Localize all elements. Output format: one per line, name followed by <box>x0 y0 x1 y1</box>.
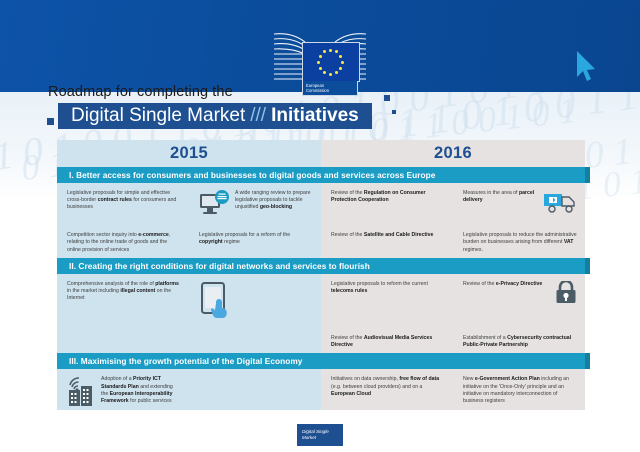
initiative-plain: New <box>463 376 475 382</box>
sections-container: I. Better access for consumers and busin… <box>57 167 585 416</box>
title-separator: /// <box>250 105 266 127</box>
title-part-1: Digital Single Market <box>71 105 245 127</box>
section-row: Competition sector inquiry into e-commer… <box>57 225 585 258</box>
initiative-text: Establishment of a Cybersecurity contrac… <box>463 335 577 349</box>
deco-square-small <box>392 110 396 114</box>
year-header-row: 2015 2016 <box>57 140 585 167</box>
initiative-cell: Legislative proposals for a reform of th… <box>189 225 321 258</box>
title-part-2: Initiatives <box>271 105 359 127</box>
section-row: Legislative proposals for simple and eff… <box>57 183 585 225</box>
initiative-plain: (e.g. between cloud providers) and on a <box>331 384 422 390</box>
initiative-cell: Review of the Regulation on Consumer Pro… <box>321 183 453 225</box>
european-commission-logo: European Commission <box>272 20 368 92</box>
page-subtitle: Roadmap for completing the <box>48 84 233 100</box>
eu-wing-left-icon <box>272 20 306 92</box>
initiative-text: Comprehensive analysis of the role of pl… <box>67 281 181 303</box>
initiative-text: New e-Government Action Plan including a… <box>463 376 577 405</box>
padlock-icon <box>555 281 577 308</box>
initiative-highlight: telecoms rules <box>331 288 367 294</box>
eu-star-icon <box>323 71 326 74</box>
parcel-truck-icon <box>543 190 577 217</box>
eu-star-icon <box>317 61 320 64</box>
initiative-cell: Review of the e-Privacy Directive <box>453 274 585 328</box>
eu-star-icon <box>341 61 344 64</box>
section-bar-label: III. Maximising the growth potential of … <box>69 356 302 366</box>
initiative-cell <box>189 328 321 353</box>
initiative-cell: Legislative proposals to reform the curr… <box>321 274 453 328</box>
dsm-badge: Digital Single Market <box>297 424 343 446</box>
initiative-highlight: e-Government Action Plan <box>475 376 540 382</box>
initiative-cell: Establishment of a Cybersecurity contrac… <box>453 328 585 353</box>
initiative-text: Initiatives on data ownership, free flow… <box>331 376 445 398</box>
initiative-highlight: illegal content <box>120 288 155 294</box>
initiative-text: Review of the e-Privacy Directive <box>463 281 551 288</box>
eu-star-icon <box>323 50 326 53</box>
initiative-plain: Competition sector inquiry into <box>67 232 138 238</box>
initiative-plain: in the market including <box>67 288 120 294</box>
initiative-text: Review of the Audiovisual Media Services… <box>331 335 445 349</box>
eu-star-icon <box>319 55 322 58</box>
initiative-plain: Measures in the area of <box>463 190 519 196</box>
eu-star-icon <box>339 67 342 70</box>
year-2016-label: 2016 <box>321 140 585 167</box>
initiative-text: Adoption of a Priority ICT Standards Pla… <box>101 376 181 405</box>
deco-square-top <box>384 95 390 101</box>
initiative-cell <box>189 369 321 415</box>
initiative-text: Review of the Satellite and Cable Direct… <box>331 232 445 239</box>
dsm-badge-line2: Market <box>302 435 343 441</box>
initiative-highlight: geo-blocking <box>260 204 292 210</box>
page-title: Digital Single Market /// Initiatives <box>58 103 372 129</box>
initiative-text: Review of the Regulation on Consumer Pro… <box>331 190 445 204</box>
section-row: Comprehensive analysis of the role of pl… <box>57 274 585 328</box>
section-bar: II. Creating the right conditions for di… <box>57 258 585 274</box>
initiative-text: Competition sector inquiry into e-commer… <box>67 232 181 254</box>
initiative-cell: Review of the Audiovisual Media Services… <box>321 328 453 353</box>
eu-star-icon <box>335 71 338 74</box>
initiative-cell: Competition sector inquiry into e-commer… <box>57 225 189 258</box>
eu-star-icon <box>329 73 332 76</box>
tablet-touch-icon <box>199 281 233 324</box>
section-bar-label: II. Creating the right conditions for di… <box>69 261 370 271</box>
initiative-text: A wide ranging review to prepare legisla… <box>235 190 313 212</box>
initiative-highlight: platforms <box>155 281 179 287</box>
initiative-highlight: e-commerce <box>138 232 169 238</box>
initiative-plain: Adoption of a <box>101 376 133 382</box>
section-bar: III. Maximising the growth potential of … <box>57 353 585 369</box>
initiative-cell: Review of the Satellite and Cable Direct… <box>321 225 453 258</box>
initiative-highlight: free flow of data <box>399 376 439 382</box>
initiative-cell: Adoption of a Priority ICT Standards Pla… <box>57 369 189 415</box>
initiative-plain: Legislative proposals for a reform of th… <box>199 232 290 238</box>
initiative-cell: Legislative proposals for simple and eff… <box>57 183 189 225</box>
initiative-cell: Measures in the area of parcel delivery <box>453 183 585 225</box>
initiative-plain: regime <box>223 239 240 245</box>
eu-star-icon <box>319 67 322 70</box>
initiative-cell: New e-Government Action Plan including a… <box>453 369 585 415</box>
initiative-plain: Legislative proposals to reform the curr… <box>331 281 428 287</box>
mouse-cursor-icon <box>575 50 597 84</box>
monitor-geoblocking-icon <box>199 190 231 221</box>
initiative-cell: Comprehensive analysis of the role of pl… <box>57 274 189 328</box>
wifi-building-icon <box>67 376 97 411</box>
initiative-plain: Review of the <box>331 232 364 238</box>
initiative-plain: Establishment of a <box>463 335 507 341</box>
initiative-cell <box>189 274 321 328</box>
infographic-root: 1 0 1 0 0 1 1 0 1 0 1 0 1 0 0 1 0 1 1 0 … <box>0 0 640 452</box>
initiative-plain: regimes. <box>463 247 483 253</box>
initiative-text: Legislative proposals for simple and eff… <box>67 190 181 212</box>
eu-flag-icon <box>302 42 360 82</box>
initiative-highlight: European Cloud <box>331 391 371 397</box>
initiative-highlight: copyright <box>199 239 223 245</box>
section-row: Review of the Audiovisual Media Services… <box>57 328 585 353</box>
initiative-highlight: VAT <box>564 239 574 245</box>
eu-star-icon <box>335 50 338 53</box>
section-bar-label: I. Better access for consumers and busin… <box>69 170 435 180</box>
initiative-plain: Legislative proposals to reduce the admi… <box>463 232 577 245</box>
initiative-plain: for public services <box>129 398 172 404</box>
eu-star-icon <box>329 49 332 52</box>
initiative-text: Legislative proposals for a reform of th… <box>199 232 313 246</box>
initiative-cell: A wide ranging review to prepare legisla… <box>189 183 321 225</box>
initiative-text: Measures in the area of parcel delivery <box>463 190 539 204</box>
section-bar: I. Better access for consumers and busin… <box>57 167 585 183</box>
initiative-plain: Review of the <box>331 190 364 196</box>
initiative-plain: Initiatives on data ownership, <box>331 376 399 382</box>
initiative-cell: Legislative proposals to reduce the admi… <box>453 225 585 258</box>
initiative-text: Legislative proposals to reduce the admi… <box>463 232 577 254</box>
logo-label-line2: Commission <box>306 88 354 93</box>
logo-label: European Commission <box>302 81 358 96</box>
initiative-highlight: Satellite and Cable Directive <box>364 232 433 238</box>
eu-star-icon <box>339 55 342 58</box>
initiative-plain: Comprehensive analysis of the role of <box>67 281 155 287</box>
initiative-cell <box>57 328 189 353</box>
initiative-plain: Review of the <box>463 281 496 287</box>
initiative-plain: Review of the <box>331 335 364 341</box>
section-row: Adoption of a Priority ICT Standards Pla… <box>57 369 585 415</box>
initiative-highlight: e-Privacy Directive <box>496 281 542 287</box>
roadmap-table: 2015 2016 I. Better access for consumers… <box>57 140 585 416</box>
initiative-cell: Initiatives on data ownership, free flow… <box>321 369 453 415</box>
deco-square-left <box>47 118 54 125</box>
year-2015-label: 2015 <box>57 140 321 167</box>
initiative-text: Legislative proposals to reform the curr… <box>331 281 445 295</box>
initiative-highlight: contract rules <box>98 197 132 203</box>
